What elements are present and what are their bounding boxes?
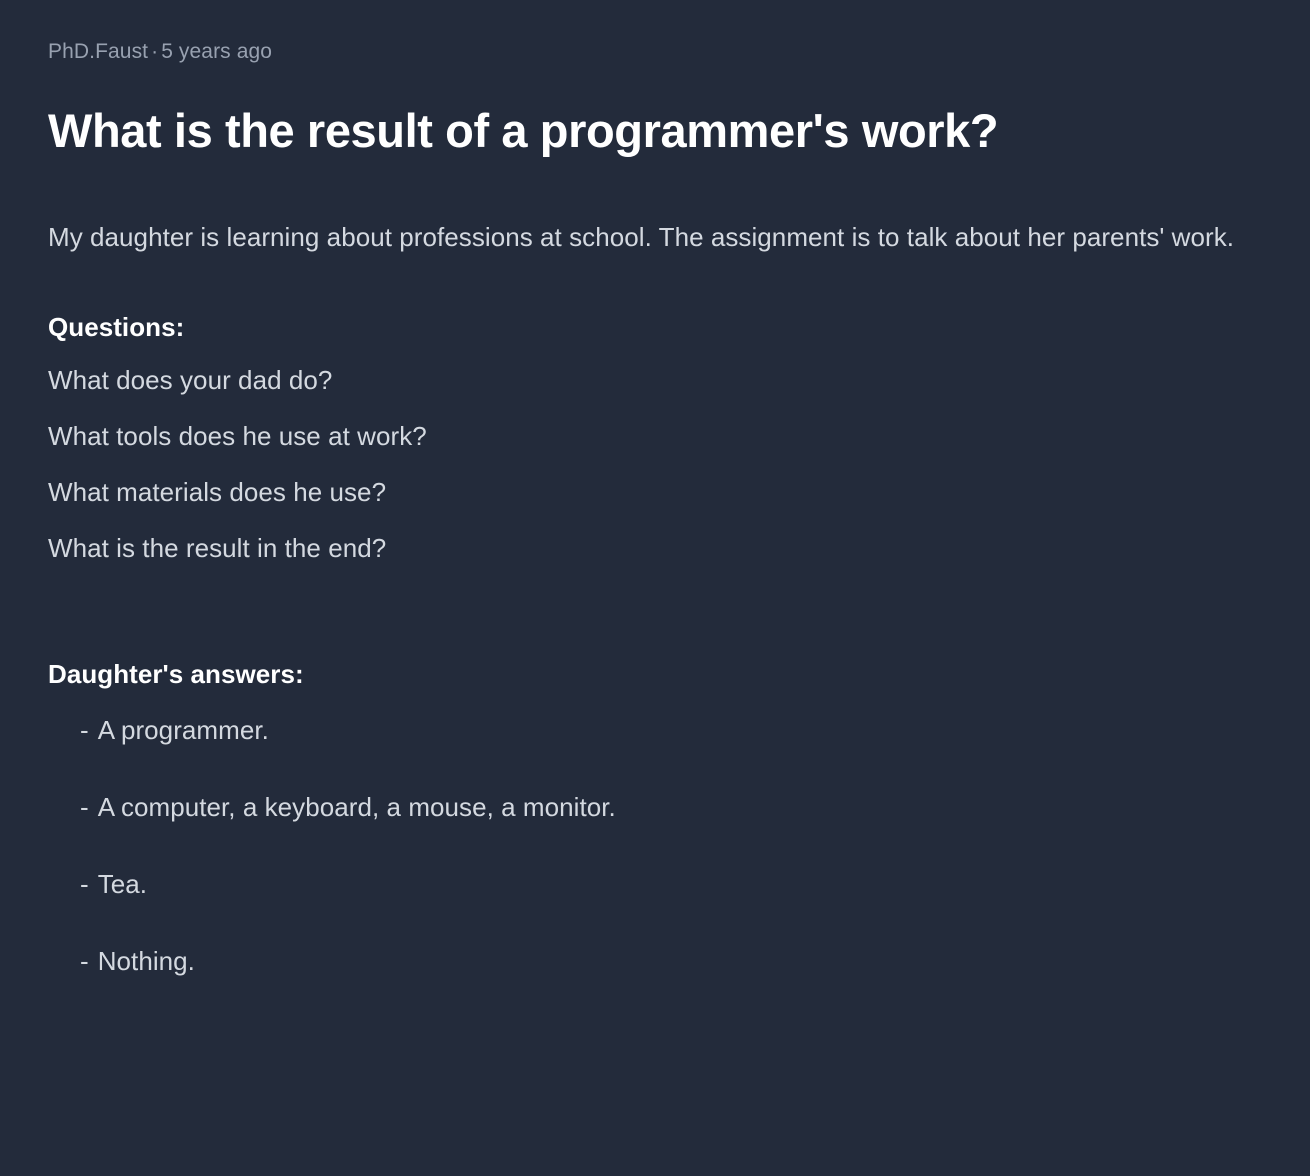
- byline-separator: ·: [148, 40, 161, 63]
- page-title: What is the result of a programmer's wor…: [48, 104, 1138, 159]
- questions-list: What does your dad do? What tools does h…: [48, 352, 1266, 576]
- list-item: -A computer, a keyboard, a mouse, a moni…: [48, 791, 1266, 825]
- list-item: -Nothing.: [48, 945, 1266, 979]
- list-item-label: A programmer.: [98, 715, 269, 745]
- bullet-dash: -: [80, 715, 89, 745]
- post-timestamp: 5 years ago: [161, 40, 272, 63]
- list-item: -A programmer.: [48, 714, 1266, 748]
- list-item: -Tea.: [48, 868, 1266, 902]
- answers-list: -A programmer. -A computer, a keyboard, …: [48, 714, 1266, 978]
- list-item: What does your dad do?: [48, 352, 1266, 408]
- list-item: What tools does he use at work?: [48, 408, 1266, 464]
- answers-heading: Daughter's answers:: [48, 658, 1266, 691]
- list-item: What materials does he use?: [48, 464, 1266, 520]
- questions-heading: Questions:: [48, 311, 1266, 344]
- author-name[interactable]: PhD.Faust: [48, 40, 148, 63]
- list-item-label: Nothing.: [98, 946, 195, 976]
- post-container: PhD.Faust·5 years ago What is the result…: [0, 0, 1310, 1176]
- list-item: What is the result in the end?: [48, 520, 1266, 576]
- bullet-dash: -: [80, 792, 89, 822]
- questions-section: Questions: What does your dad do? What t…: [48, 311, 1266, 576]
- post-byline: PhD.Faust·5 years ago: [48, 38, 1266, 66]
- list-item-label: A computer, a keyboard, a mouse, a monit…: [98, 792, 616, 822]
- list-item-label: Tea.: [98, 869, 147, 899]
- answers-section: Daughter's answers: -A programmer. -A co…: [48, 658, 1266, 979]
- bullet-dash: -: [80, 946, 89, 976]
- post-intro-paragraph: My daughter is learning about profession…: [48, 215, 1266, 260]
- bullet-dash: -: [80, 869, 89, 899]
